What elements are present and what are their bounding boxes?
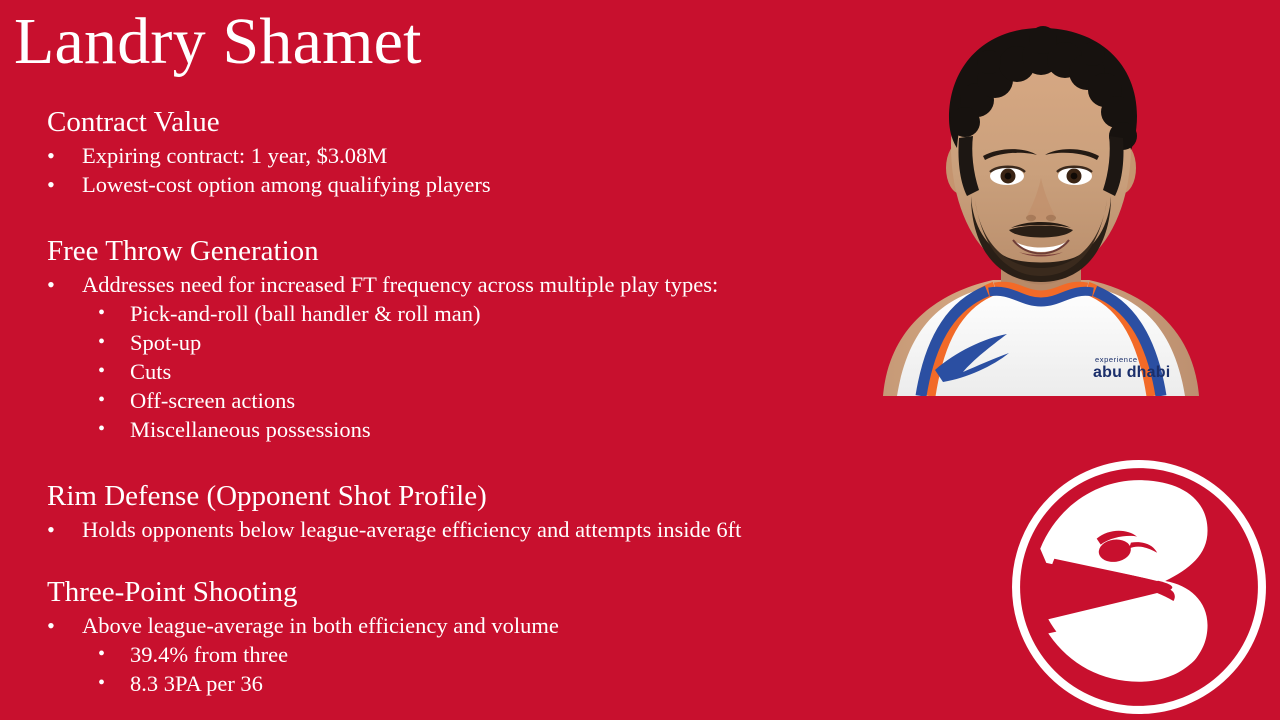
svg-text:abu dhabi: abu dhabi: [1093, 364, 1170, 381]
list-item-label: Spot-up: [130, 330, 201, 355]
list-item-label: Holds opponents below league-average eff…: [82, 517, 741, 542]
bullet-list-level1: • Addresses need for increased FT freque…: [0, 270, 900, 299]
section-heading: Free Throw Generation: [0, 233, 900, 270]
list-item: • Expiring contract: 1 year, $3.08M: [0, 141, 900, 170]
list-item-label: Lowest-cost option among qualifying play…: [82, 172, 491, 197]
list-item-label: Off-screen actions: [130, 388, 295, 413]
list-item-label: Above league-average in both efficiency …: [82, 613, 559, 638]
bullet-list-level2: • 39.4% from three • 8.3 3PA per 36: [0, 640, 900, 698]
list-item-label: Expiring contract: 1 year, $3.08M: [82, 143, 387, 168]
list-item: • Miscellaneous possessions: [0, 415, 900, 444]
list-item-label: 8.3 3PA per 36: [130, 671, 263, 696]
list-item-label: Cuts: [130, 359, 171, 384]
list-item: • Holds opponents below league-average e…: [0, 515, 900, 544]
bullet-glyph-icon: •: [98, 299, 112, 327]
bullet-list-level2: • Pick-and-roll (ball handler & roll man…: [0, 299, 900, 445]
bullet-glyph-icon: •: [98, 640, 112, 668]
bullet-glyph-icon: •: [47, 611, 61, 640]
bullet-glyph-icon: •: [47, 170, 61, 199]
spacer: [0, 199, 900, 233]
section-heading: Contract Value: [0, 104, 900, 141]
spacer: [0, 544, 900, 574]
list-item-label: Miscellaneous possessions: [130, 417, 371, 442]
section-three-point-shooting: Three-Point Shooting • Above league-aver…: [0, 574, 900, 698]
bullet-glyph-icon: •: [98, 357, 112, 385]
slide-body: Contract Value • Expiring contract: 1 ye…: [0, 104, 900, 698]
bullet-glyph-icon: •: [98, 328, 112, 356]
bullet-glyph-icon: •: [47, 515, 61, 544]
atlanta-hawks-logo: [1010, 458, 1268, 716]
spacer: [0, 444, 900, 478]
bullet-list-level1: • Holds opponents below league-average e…: [0, 515, 900, 544]
section-free-throw-generation: Free Throw Generation • Addresses need f…: [0, 233, 900, 444]
list-item: • Above league-average in both efficienc…: [0, 611, 900, 640]
list-item: • Lowest-cost option among qualifying pl…: [0, 170, 900, 199]
section-contract-value: Contract Value • Expiring contract: 1 ye…: [0, 104, 900, 199]
list-item: • Addresses need for increased FT freque…: [0, 270, 900, 299]
bullet-glyph-icon: •: [98, 415, 112, 443]
list-item-label: 39.4% from three: [130, 642, 288, 667]
bullet-glyph-icon: •: [98, 669, 112, 697]
list-item-label: Pick-and-roll (ball handler & roll man): [130, 301, 481, 326]
bullet-glyph-icon: •: [47, 270, 61, 299]
list-item: • Off-screen actions: [0, 386, 900, 415]
list-item: • Cuts: [0, 357, 900, 386]
list-item: • Spot-up: [0, 328, 900, 357]
section-heading: Three-Point Shooting: [0, 574, 900, 611]
list-item: • 39.4% from three: [0, 640, 900, 669]
page-title: Landry Shamet: [14, 6, 422, 77]
svg-text:experience: experience: [1095, 355, 1138, 364]
bullet-list-level1: • Above league-average in both efficienc…: [0, 611, 900, 640]
section-rim-defense: Rim Defense (Opponent Shot Profile) • Ho…: [0, 478, 900, 544]
bullet-glyph-icon: •: [98, 386, 112, 414]
bullet-list-level1: • Expiring contract: 1 year, $3.08M • Lo…: [0, 141, 900, 200]
bullet-glyph-icon: •: [47, 141, 61, 170]
section-heading: Rim Defense (Opponent Shot Profile): [0, 478, 900, 515]
list-item-label: Addresses need for increased FT frequenc…: [82, 272, 718, 297]
player-headshot: experience abu dhabi: [843, 0, 1239, 396]
slide-canvas: Landry Shamet Contract Value • Expiring …: [0, 0, 1280, 720]
list-item: • 8.3 3PA per 36: [0, 669, 900, 698]
list-item: • Pick-and-roll (ball handler & roll man…: [0, 299, 900, 328]
